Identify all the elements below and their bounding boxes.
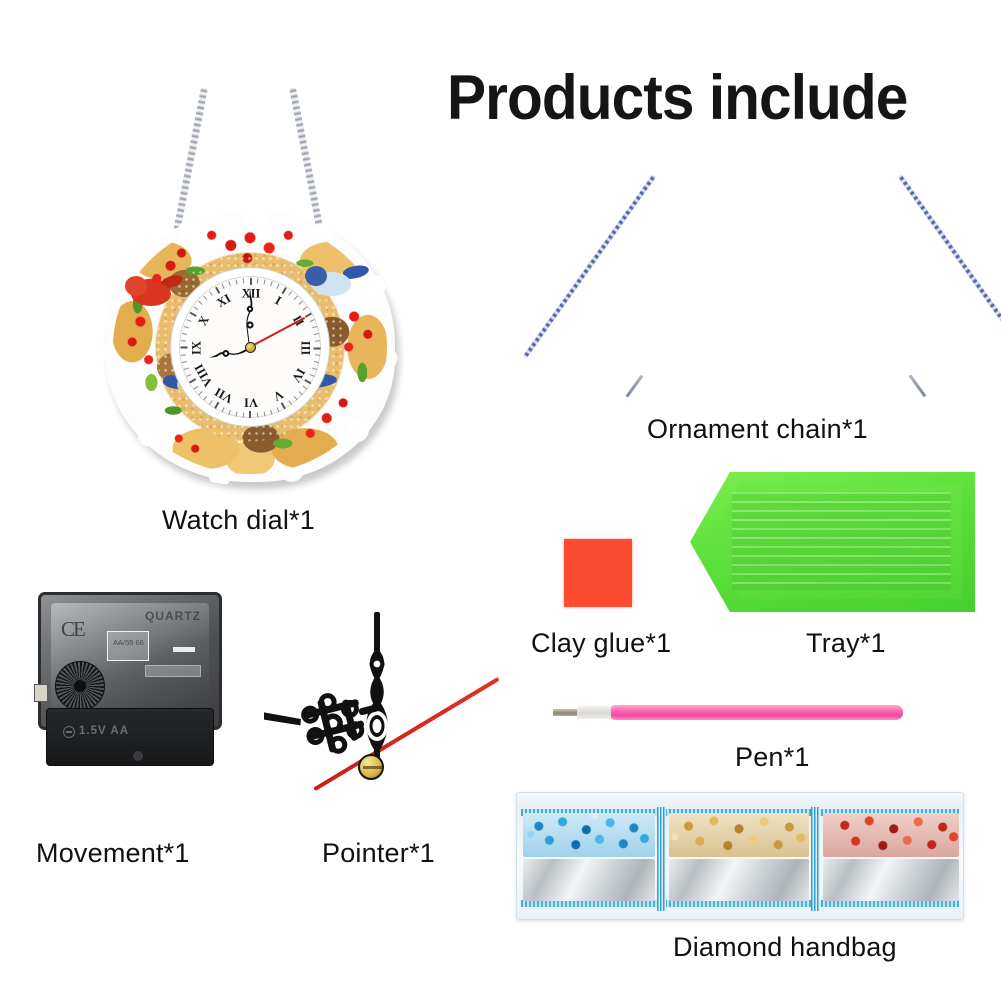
movement-white-slot [173,647,195,652]
clock-tick [203,296,207,300]
pointer-center-hub [358,754,384,780]
movement-sticker-text: AA/55 66 [113,638,144,647]
handbag-compartment-blue [523,813,655,907]
clock-tick [181,347,188,349]
clock-tick [181,340,186,342]
diamond-handbag-illustration [516,792,964,920]
gold-rhinestones [669,813,809,857]
clock-face: XIIIIIIIIIVVVIVIIVIIIIXXXI [170,267,330,427]
movement-label: Movement*1 [36,838,190,869]
clock-tick [222,284,225,289]
clock-tick [198,301,202,305]
clock-tick [303,386,308,390]
red-rhinestones [823,813,959,857]
diamond-handbag-label: Diamond handbag [673,932,897,963]
page-title: Products include [447,62,907,134]
handbag-compartment-gold [669,813,809,907]
clock-tick [222,407,225,412]
handbag-plastic-wrap [516,792,964,920]
pen-illustration [553,704,903,722]
clock-tick [189,379,196,384]
clock-tick [235,279,237,284]
tray-illustration [690,472,975,612]
clock-tick [228,410,230,415]
clock-tick [303,306,308,310]
clock-tick [282,287,287,294]
battery-label: 1.5V AA [79,725,129,737]
clock-tick [184,368,189,370]
handbag-compartment-red [823,813,959,907]
pen-collar [577,706,615,719]
movement-inner-casing: CE QUARTZ AA/55 66 [51,603,209,713]
clock-movement-illustration: CE QUARTZ AA/55 66 1.5V AA [38,592,222,772]
clock-tick [315,354,320,356]
compartment-divider-1 [657,807,666,911]
clock-tick [310,319,315,322]
clock-tick [181,354,186,356]
clay-glue-label: Clay glue*1 [531,628,671,659]
ornament-chain-right-strand [898,175,1001,358]
clock-tick [184,326,189,328]
clock-tick [249,411,251,418]
blue-rhinestones [523,813,655,857]
clock-tick [182,361,187,363]
clay-glue-illustration [564,539,632,607]
compartment-divider-2 [811,807,820,911]
foil-label-red [823,859,959,901]
clock-tick [288,400,292,405]
ornament-chain-label: Ornament chain*1 [647,414,868,445]
clock-tick [228,281,230,286]
time-setting-wheel-icon [55,661,105,711]
chain-end-tip-right-icon [909,375,926,398]
clock-tick [288,291,292,296]
pen-metal-tip-icon [553,709,579,716]
battery-polarity-icon [63,726,75,738]
clock-tick [305,379,312,384]
clock-tick [312,368,317,370]
movement-sticker: AA/55 66 [107,631,149,661]
clock-tick [215,402,220,409]
clock-tick [243,278,245,283]
clock-tick [186,374,191,377]
pen-label: Pen*1 [735,742,810,773]
clock-tick [276,407,279,412]
clock-tick [209,400,213,405]
clock-tick [182,333,187,335]
clock-tick [312,326,317,328]
watch-dial-label: Watch dial*1 [162,505,315,536]
quartz-marking: QUARTZ [145,609,201,623]
battery-compartment: 1.5V AA [46,708,214,766]
product-contents-infographic: Products include XIIIIIIIIIVVVIVIIVIII [0,0,1001,1001]
clock-tick [194,306,199,310]
clock-tick [294,396,298,400]
tray-grooves [732,492,951,590]
clock-tick [270,281,272,286]
clock-tick [264,279,266,284]
clock-tick [298,391,302,395]
ce-mark-icon: CE [61,617,84,642]
ornament-chain-illustration [630,168,922,398]
clock-tick [310,374,315,377]
clock-tick [194,386,199,390]
battery-screw-dot [133,751,143,761]
clock-tick [250,278,252,285]
foil-label-gold [669,859,809,901]
wreath-clock: XIIIIIIIIIVVVIVIIVIIIIXXXI [105,212,395,482]
clock-tick [257,413,259,418]
clock-tick [243,413,245,418]
clock-tick [203,396,207,400]
watch-dial-illustration: XIIIIIIIIIVVVIVIIVIIIIXXXI [95,80,405,500]
roman-numeral: IX [190,341,205,355]
clock-tick [294,296,298,300]
clock-tick [305,313,312,318]
pointer-hands-illustration [262,612,517,817]
clock-tick [314,348,321,350]
clock-tick [257,278,259,283]
movement-internal-bar [145,665,201,677]
clock-tick [209,291,213,296]
foil-label-blue [523,859,655,901]
chain-end-tip-left-icon [626,375,643,398]
clock-tick [315,340,320,342]
clock-tick [314,333,319,335]
clock-tick [314,361,319,363]
roman-numeral: III [298,341,313,356]
clock-tick [298,301,302,305]
battery-contact-tab [34,684,48,702]
clock-tick [281,402,286,409]
pointer-label: Pointer*1 [322,838,435,869]
clock-tick [190,312,197,317]
minute-hand-icon [246,287,254,347]
pen-body [611,705,903,720]
tray-label: Tray*1 [806,628,886,659]
cardinal-bird-icon [123,274,183,314]
clock-tick [276,284,279,289]
clock-tick [264,411,266,416]
ornament-chain-left-strand [523,175,655,358]
clock-tick [186,319,191,322]
roman-numeral: VI [244,395,258,410]
clock-tick [235,411,237,416]
clock-tick [198,391,202,395]
clock-center-hub [245,342,256,353]
clock-tick [270,410,272,415]
clock-tick [215,287,220,294]
